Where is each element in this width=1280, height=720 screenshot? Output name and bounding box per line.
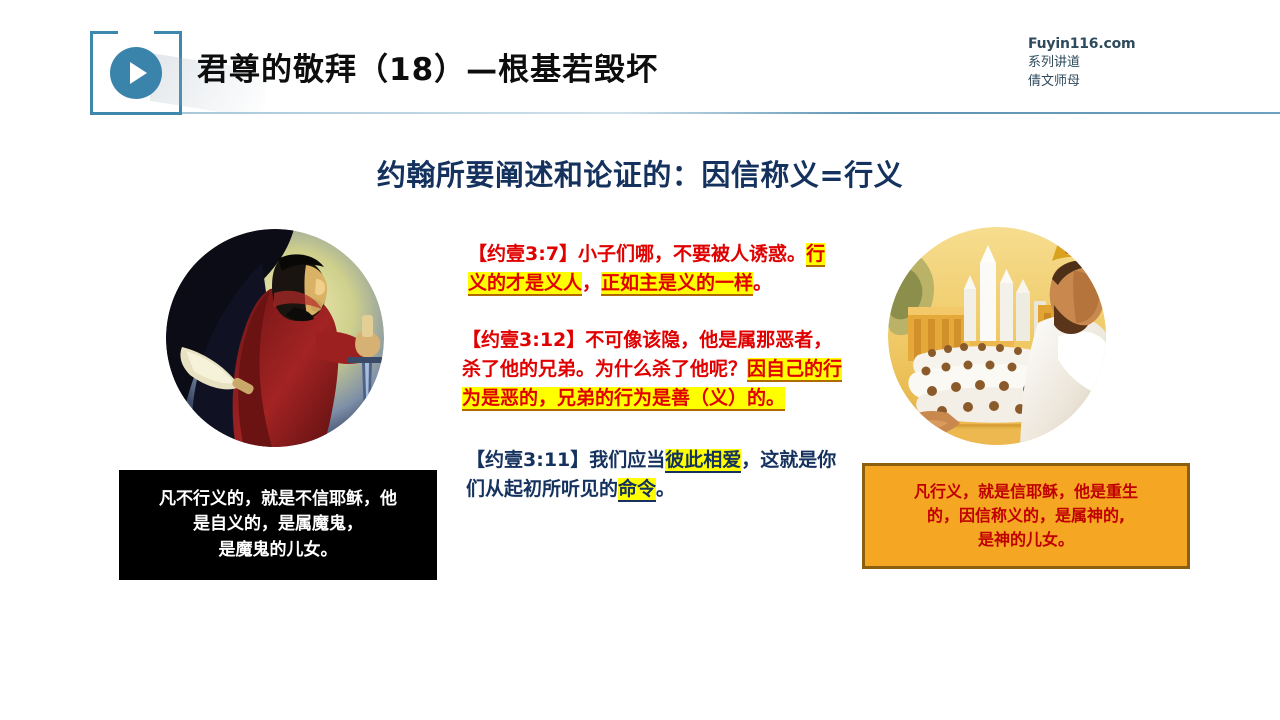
verse-1-highlight-b: 正如主是义的一样	[601, 272, 753, 294]
verse-2-reference: 【约壹3:12】	[462, 329, 585, 351]
frame-edge-right	[179, 31, 182, 115]
brand-block: Fuyin116.com 系列讲道 倩文师母	[1028, 34, 1188, 92]
verse-1-text-c: 。	[753, 272, 772, 294]
verse-1john-3-11: 【约壹3:11】我们应当彼此相爱，这就是你们从起初所听见的命令。	[452, 446, 844, 504]
verse-1-text-b: ，	[582, 272, 601, 294]
verse-1-reference: 【约壹3:7】	[468, 243, 578, 265]
verse-3-text-a: 我们应当	[589, 449, 665, 471]
verse-3-reference: 【约壹3:11】	[466, 449, 589, 471]
frame-edge-left	[90, 31, 93, 115]
cain-with-sword-image	[166, 229, 384, 447]
main-heading: 约翰所要阐述和论证的：因信称义=行义	[0, 152, 1280, 194]
verse-1-text-a: 小子们哪，不要被人诱惑。	[578, 243, 806, 265]
caption-black-line-1: 凡不行义的，就是不信耶稣，他	[159, 487, 397, 513]
verse-1john-3-12: 【约壹3:12】不可像该隐，他是属那恶者，杀了他的兄弟。为什么杀了他呢？因自己的…	[452, 326, 844, 413]
verse-gap-1	[452, 298, 844, 326]
verse-3-text-c: 。	[656, 478, 675, 500]
verse-gap-2	[452, 412, 844, 446]
frame-edge-top-right	[154, 31, 182, 34]
verse-1john-3-7: 【约壹3:7】小子们哪，不要被人诱惑。行义的才是义人，正如主是义的一样。	[452, 240, 844, 298]
page-title: 君尊的敬拜（18）—根基若毁坏	[197, 44, 658, 89]
caption-black-line-3: 是魔鬼的儿女。	[159, 538, 397, 564]
brand-site: Fuyin116.com	[1028, 34, 1188, 54]
verse-3-highlight-b: 命令	[618, 478, 656, 500]
frame-edge-bottom	[90, 112, 182, 115]
brand-speaker: 倩文师母	[1028, 73, 1188, 92]
king-welcoming-crowd-image	[888, 227, 1106, 445]
right-illustration	[888, 227, 1106, 445]
slide: 君尊的敬拜（18）—根基若毁坏 Fuyin116.com 系列讲道 倩文师母 约…	[0, 0, 1280, 720]
left-illustration	[166, 229, 384, 447]
verse-3-highlight-a: 彼此相爱	[665, 449, 741, 471]
caption-black-line-2: 是自义的，是属魔鬼，	[159, 512, 397, 538]
header-divider	[182, 112, 1280, 114]
caption-orange-line-3: 是神的儿女。	[914, 528, 1138, 552]
play-button-icon[interactable]	[110, 47, 162, 99]
caption-orange-line-2: 的，因信称义的，是属神的,	[914, 504, 1138, 528]
slide-header: 君尊的敬拜（18）—根基若毁坏 Fuyin116.com 系列讲道 倩文师母	[0, 0, 1280, 130]
play-triangle-icon	[130, 62, 147, 84]
scripture-column: 【约壹3:7】小子们哪，不要被人诱惑。行义的才是义人，正如主是义的一样。 【约壹…	[452, 240, 844, 504]
caption-black-box: 凡不行义的，就是不信耶稣，他 是自义的，是属魔鬼， 是魔鬼的儿女。	[119, 470, 437, 580]
caption-orange-line-1: 凡行义，就是信耶稣，他是重生	[914, 480, 1138, 504]
brand-series: 系列讲道	[1028, 54, 1188, 73]
caption-orange-box: 凡行义，就是信耶稣，他是重生 的，因信称义的，是属神的, 是神的儿女。	[862, 463, 1190, 569]
frame-edge-top-left	[90, 31, 118, 34]
